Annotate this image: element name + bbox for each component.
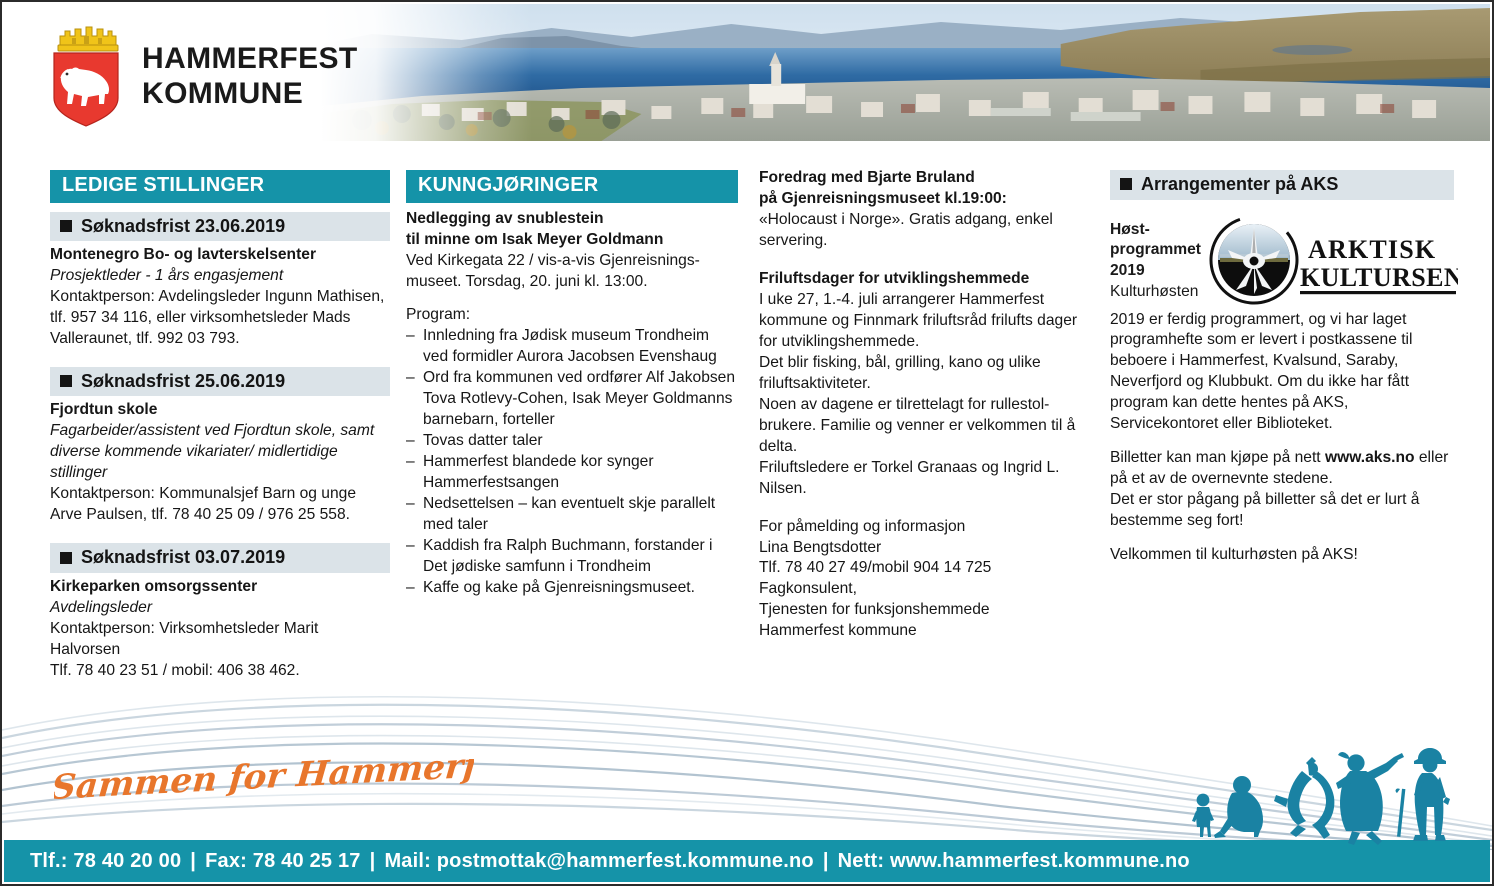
footer-fax-label: Fax: bbox=[205, 850, 247, 873]
aks-paragraph-2: Billetter kan man kjøpe på nett www.aks.… bbox=[1110, 448, 1454, 490]
brand-name-line1: HAMMERFEST bbox=[142, 41, 358, 76]
list-item: Innledning fra Jødisk museum Trondheim v… bbox=[406, 326, 738, 368]
list-item: Kaddish fra Ralph Buchmann, forstander i… bbox=[406, 536, 738, 578]
footer-separator: | bbox=[814, 850, 838, 873]
square-bullet-icon bbox=[60, 375, 72, 387]
job-deadline-label: Søknadsfrist 03.07.2019 bbox=[81, 546, 285, 569]
newsletter-page: HAMMERFEST KOMMUNE LEDIGE STILLINGER Søk… bbox=[0, 0, 1494, 886]
aks-season-label: Høst- programmet 2019 Kulturhøsten bbox=[1110, 220, 1214, 303]
lecture-title-line1: Foredrag med Bjarte Bruland bbox=[759, 168, 1089, 189]
job-deadline-label: Søknadsfrist 23.06.2019 bbox=[81, 215, 285, 238]
aks-paragraph-3: Det er stor pågang på billetter så det e… bbox=[1110, 490, 1454, 532]
list-item: Nedsettelsen – kan eventuelt skje parall… bbox=[406, 494, 738, 536]
notice-title-line1: Nedlegging av snublestein bbox=[406, 209, 738, 230]
aks-logo-row: Høst- programmet 2019 Kulturhøsten bbox=[1110, 214, 1454, 306]
tagline-sammen-for-hammerfest: Sammen for Hammerfest! bbox=[54, 759, 474, 815]
job-role: Avdelingsleder bbox=[50, 598, 390, 619]
outdoor-title: Friluftsdager for utviklingshemmede bbox=[759, 269, 1089, 290]
section-header-jobs: LEDIGE STILLINGER bbox=[50, 170, 390, 203]
content-columns: LEDIGE STILLINGER Søknadsfrist 23.06.201… bbox=[2, 170, 1492, 690]
outdoor-paragraph-4: Friluftsledere er Torkel Granaas og Ingr… bbox=[759, 458, 1089, 500]
column-notices: KUNNGJØRINGER Nedlegging av snublestein … bbox=[406, 170, 738, 599]
job-role: Fagarbeider/assistent ved Fjordtun skole… bbox=[50, 421, 390, 484]
job-workplace: Montenegro Bo- og lavterskelsenter bbox=[50, 245, 390, 266]
svg-text:ARKTISK: ARKTISK bbox=[1308, 235, 1436, 264]
square-bullet-icon bbox=[60, 220, 72, 232]
brand-wordmark: HAMMERFEST KOMMUNE bbox=[142, 41, 358, 112]
job-role: Prosjektleder - 1 års engasjement bbox=[50, 266, 390, 287]
outdoor-paragraph-2: Det blir fisking, bål, grilling, kano og… bbox=[759, 353, 1089, 395]
aks-season-line4: Kulturhøsten bbox=[1110, 282, 1214, 303]
footer-web[interactable]: www.hammerfest.kommune.no bbox=[890, 850, 1190, 873]
job-deadline-bar: Søknadsfrist 23.06.2019 bbox=[50, 212, 390, 242]
list-item: Ord fra kommunen ved ordfører Alf Jakobs… bbox=[406, 368, 738, 431]
list-item: Tovas datter taler bbox=[406, 431, 738, 452]
column-events: Foredrag med Bjarte Bruland på Gjenreisn… bbox=[759, 170, 1089, 642]
hammerfest-aerial-photo bbox=[302, 4, 1490, 141]
notice-program-list: Innledning fra Jødisk museum Trondheim v… bbox=[406, 326, 738, 599]
signup-name: Lina Bengtsdotter bbox=[759, 538, 1089, 559]
aks-paragraph-1: 2019 er ferdig programmert, og vi har la… bbox=[1110, 310, 1454, 436]
people-silhouettes-icon bbox=[1182, 741, 1482, 846]
job-contact: Kontaktperson: Virksomhetsleder Marit Ha… bbox=[50, 619, 390, 661]
signup-phone: Tlf. 78 40 27 49/mobil 904 14 725 bbox=[759, 558, 1089, 579]
footer-contact-bar: Tlf.: 78 40 20 00 | Fax: 78 40 25 17 | M… bbox=[4, 840, 1490, 882]
brand-logo: HAMMERFEST KOMMUNE bbox=[48, 24, 358, 128]
lecture-body: «Holocaust i Norge». Gratis adgang, enke… bbox=[759, 210, 1089, 252]
svg-text:Sammen for Hammerfest!: Sammen for Hammerfest! bbox=[54, 759, 474, 808]
aks-season-line1: Høst- bbox=[1110, 220, 1214, 241]
signup-label: For påmelding og informasjon bbox=[759, 517, 1089, 538]
outdoor-paragraph-3: Noen av dagene er tilrettelagt for rulle… bbox=[759, 395, 1089, 458]
aks-paragraph-4: Velkommen til kulturhøsten på AKS! bbox=[1110, 545, 1454, 566]
job-workplace: Fjordtun skole bbox=[50, 400, 390, 421]
notice-title-line2: til minne om Isak Meyer Goldmann bbox=[406, 230, 738, 251]
arktisk-kultursenter-logo-icon: ARKTISK KULTURSENTER bbox=[1208, 214, 1458, 306]
column-aks: Arrangementer på AKS Høst- programmet 20… bbox=[1110, 170, 1454, 566]
job-contact: Kontaktperson: Avdelingsleder Ingunn Mat… bbox=[50, 287, 390, 350]
section-header-aks-label: Arrangementer på AKS bbox=[1141, 173, 1338, 196]
notice-intro: Ved Kirkegata 22 / vis-a-vis Gjenreisnin… bbox=[406, 251, 738, 293]
signup-role: Fagkonsulent, bbox=[759, 579, 1089, 600]
footer-web-label: Nett: bbox=[838, 850, 885, 873]
footer-separator: | bbox=[181, 850, 205, 873]
svg-text:KULTURSENTER: KULTURSENTER bbox=[1300, 263, 1458, 292]
job-workplace: Kirkeparken omsorgssenter bbox=[50, 577, 390, 598]
signup-org: Hammerfest kommune bbox=[759, 621, 1089, 642]
outdoor-paragraph-1: I uke 27, 1.-4. juli arrangerer Hammerfe… bbox=[759, 290, 1089, 353]
aks-website-link[interactable]: www.aks.no bbox=[1325, 449, 1415, 466]
section-header-notices: KUNNGJØRINGER bbox=[406, 170, 738, 203]
job-deadline-bar: Søknadsfrist 25.06.2019 bbox=[50, 367, 390, 397]
page-header: HAMMERFEST KOMMUNE bbox=[2, 2, 1492, 145]
square-bullet-icon bbox=[1120, 178, 1132, 190]
aks-season-line3: 2019 bbox=[1110, 261, 1214, 282]
square-bullet-icon bbox=[60, 552, 72, 564]
footer-mail[interactable]: postmottak@hammerfest.kommune.no bbox=[437, 850, 814, 873]
column-jobs: LEDIGE STILLINGER Søknadsfrist 23.06.201… bbox=[50, 170, 390, 682]
job-phone: Tlf. 78 40 23 51 / mobil: 406 38 462. bbox=[50, 661, 390, 682]
job-contact: Kontaktperson: Kommunalsjef Barn og unge… bbox=[50, 484, 390, 526]
aks-season-line2: programmet bbox=[1110, 240, 1214, 261]
list-item: Kaffe og kake på Gjenreisningsmuseet. bbox=[406, 578, 738, 599]
footer-fax: 78 40 25 17 bbox=[253, 850, 361, 873]
aks-tickets-text-before: Billetter kan man kjøpe på nett bbox=[1110, 449, 1325, 466]
footer-mail-label: Mail: bbox=[384, 850, 431, 873]
lecture-title-line2: på Gjenreisningsmuseet kl.19:00: bbox=[759, 189, 1089, 210]
job-deadline-label: Søknadsfrist 25.06.2019 bbox=[81, 370, 285, 393]
section-header-aks: Arrangementer på AKS bbox=[1110, 170, 1454, 200]
brand-name-line2: KOMMUNE bbox=[142, 76, 358, 111]
job-deadline-bar: Søknadsfrist 03.07.2019 bbox=[50, 543, 390, 573]
footer-phone-label: Tlf.: bbox=[30, 850, 68, 873]
footer-separator: | bbox=[361, 850, 385, 873]
polar-bear-crest-icon bbox=[48, 24, 124, 128]
list-item: Hammerfest blandede kor synger Hammerfes… bbox=[406, 452, 738, 494]
signup-dept: Tjenesten for funksjonshemmede bbox=[759, 600, 1089, 621]
notice-program-label: Program: bbox=[406, 305, 738, 326]
footer-phone: 78 40 20 00 bbox=[73, 850, 181, 873]
